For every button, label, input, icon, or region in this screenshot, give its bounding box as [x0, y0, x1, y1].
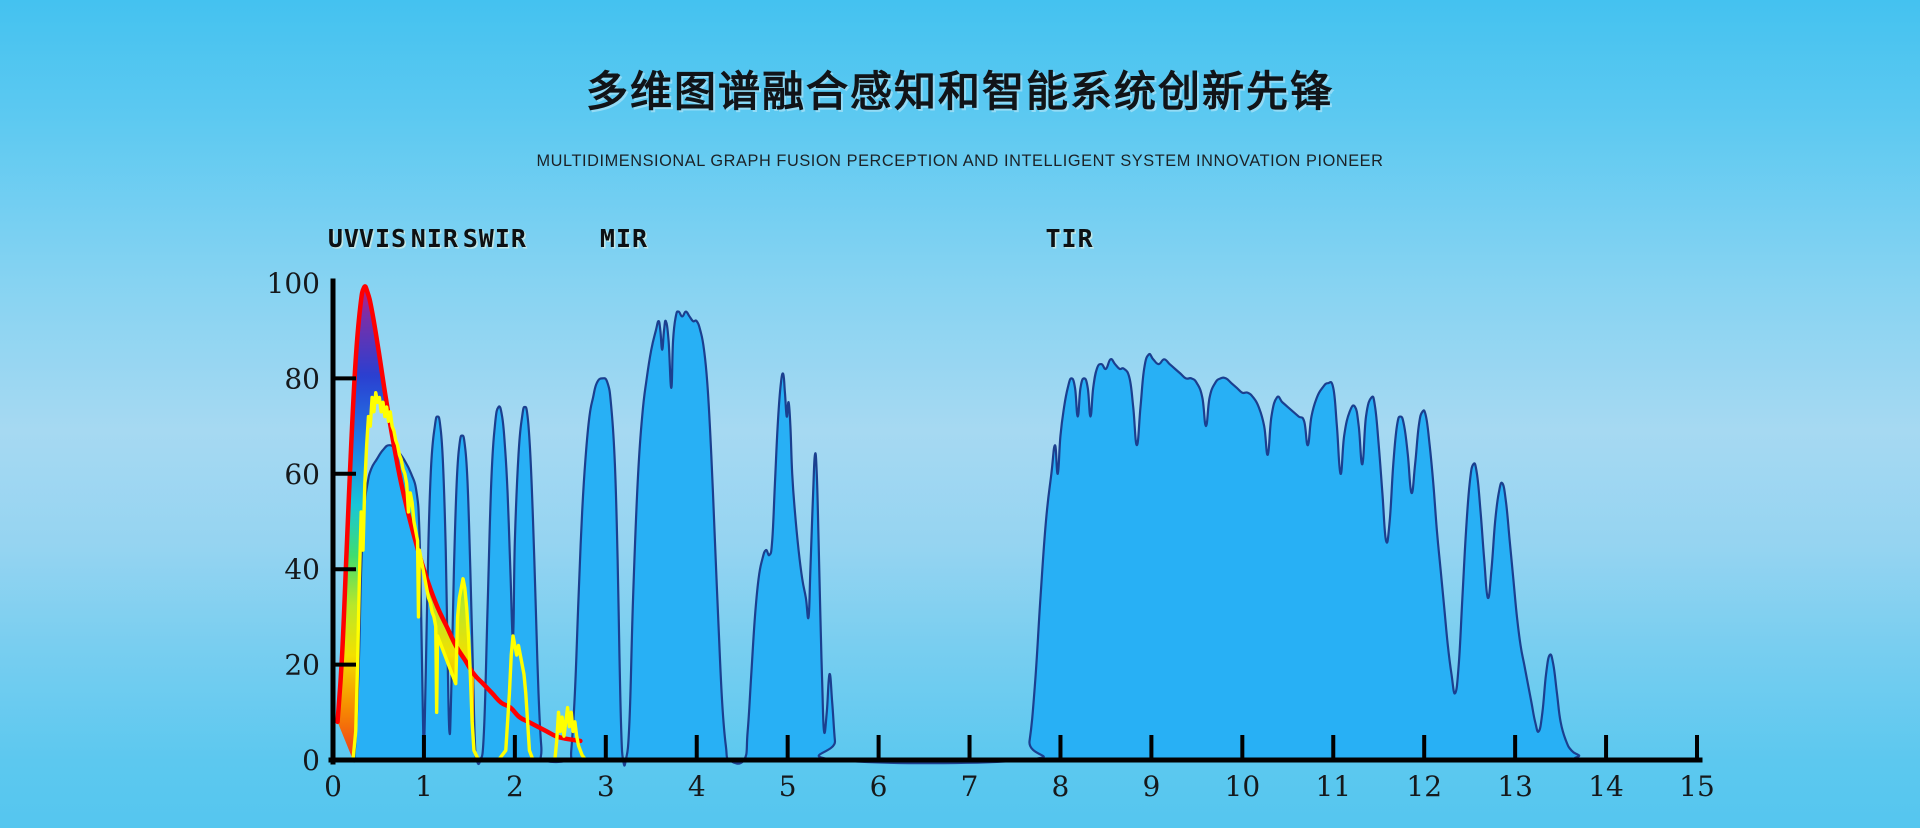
y-tick-label: 100 — [267, 267, 320, 300]
chart-series-group — [330, 275, 1697, 775]
band-label-mir: MIR — [600, 224, 648, 253]
y-axis-tick-labels: 020406080100 — [267, 267, 320, 777]
x-tick-label: 6 — [870, 770, 888, 803]
x-tick-label: 0 — [324, 770, 342, 803]
y-tick-label: 20 — [284, 649, 320, 682]
x-tick-label: 8 — [1052, 770, 1070, 803]
x-tick-label: 2 — [506, 770, 524, 803]
band-label-nir: NIR — [411, 224, 459, 253]
x-tick-label: 7 — [961, 770, 979, 803]
y-tick-label: 80 — [284, 362, 320, 395]
x-tick-label: 15 — [1679, 770, 1715, 803]
x-tick-label: 1 — [415, 770, 433, 803]
x-tick-label: 3 — [597, 770, 615, 803]
band-label-uv: UV — [328, 224, 360, 253]
x-tick-label: 4 — [688, 770, 706, 803]
spectrum-chart: 020406080100 0123456789101112131415 — [0, 0, 1920, 828]
y-tick-label: 60 — [284, 458, 320, 491]
x-tick-label: 12 — [1406, 770, 1442, 803]
x-tick-label: 10 — [1225, 770, 1261, 803]
atmospheric-transmission-area — [333, 311, 1697, 765]
poster-canvas: 多维图谱融合感知和智能系统创新先锋 MULTIDIMENSIONAL GRAPH… — [0, 0, 1920, 828]
band-label-swir: SWIR — [463, 224, 527, 253]
y-tick-label: 0 — [302, 744, 320, 777]
band-label-tir: TIR — [1045, 224, 1093, 253]
x-tick-label: 14 — [1588, 770, 1624, 803]
x-tick-label: 11 — [1315, 770, 1351, 803]
x-tick-label: 9 — [1142, 770, 1160, 803]
x-axis-tick-labels: 0123456789101112131415 — [324, 770, 1715, 803]
y-tick-label: 40 — [284, 553, 320, 586]
x-tick-label: 13 — [1497, 770, 1533, 803]
band-label-vis: VIS — [359, 224, 407, 253]
x-tick-label: 5 — [779, 770, 797, 803]
